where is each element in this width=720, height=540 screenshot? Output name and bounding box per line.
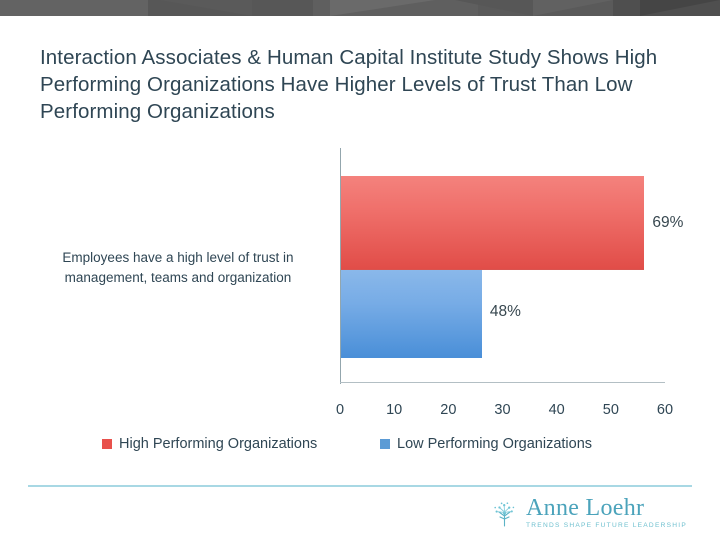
banner-triangle xyxy=(455,0,533,16)
decorative-top-banner xyxy=(0,0,720,16)
legend-item-high-performing[interactable]: High Performing Organizations xyxy=(102,436,317,452)
banner-triangle xyxy=(640,0,720,16)
x-tick-label: 60 xyxy=(657,402,673,418)
x-tick-label: 50 xyxy=(603,402,619,418)
banner-triangle xyxy=(160,0,252,16)
bar-value-low: 48% xyxy=(490,303,521,321)
category-axis-label: Employees have a high level of trust in … xyxy=(24,248,332,288)
legend-swatch-icon xyxy=(102,439,112,449)
bar-value-high: 69% xyxy=(652,214,683,232)
bar-high-performing[interactable] xyxy=(341,176,644,270)
brand-logo: Anne Loehr TRENDS SHAPE FUTURE LEADERSHI… xyxy=(490,496,687,531)
banner-triangle xyxy=(330,0,435,16)
plot-area: 69% 48% xyxy=(340,148,665,383)
banner-facet xyxy=(0,0,148,16)
legend-item-low-performing[interactable]: Low Performing Organizations xyxy=(380,436,592,452)
x-tick-label: 40 xyxy=(549,402,565,418)
legend-swatch-icon xyxy=(380,439,390,449)
category-label-line-1: Employees have a high level of trust in xyxy=(24,248,332,268)
bar-low-performing[interactable] xyxy=(341,270,482,358)
x-tick-label: 30 xyxy=(494,402,510,418)
bar-chart: Employees have a high level of trust in … xyxy=(0,140,720,440)
legend-label: Low Performing Organizations xyxy=(397,436,592,452)
slide-title: Interaction Associates & Human Capital I… xyxy=(40,44,690,125)
category-label-line-2: management, teams and organization xyxy=(24,268,332,288)
legend-label: High Performing Organizations xyxy=(119,436,317,452)
x-axis-tick-labels: 0102030405060 xyxy=(340,402,665,424)
banner-triangle xyxy=(533,0,613,16)
chart-legend: High Performing OrganizationsLow Perform… xyxy=(0,436,720,458)
logo-name: Anne Loehr xyxy=(526,496,687,520)
dandelion-icon xyxy=(490,499,520,529)
logo-text: Anne Loehr TRENDS SHAPE FUTURE LEADERSHI… xyxy=(526,496,687,531)
x-tick-label: 10 xyxy=(386,402,402,418)
x-axis-line xyxy=(340,382,665,383)
x-tick-label: 0 xyxy=(336,402,344,418)
x-tick-label: 20 xyxy=(440,402,456,418)
footer-divider xyxy=(28,485,692,487)
logo-tagline: TRENDS SHAPE FUTURE LEADERSHIP xyxy=(526,521,687,531)
